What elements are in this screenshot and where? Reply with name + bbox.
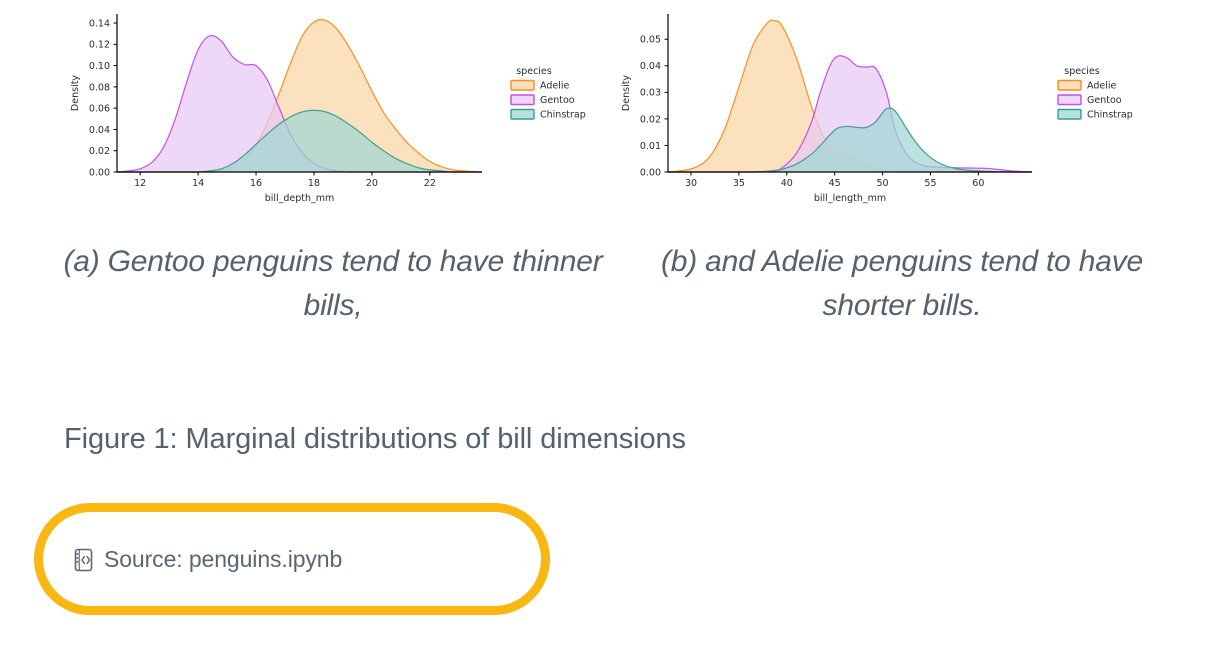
y-tick-label: 0.12 [89, 40, 110, 51]
y-axis-title: Density [70, 75, 81, 111]
legend-label-chinstrap: Chinstrap [1087, 109, 1133, 120]
x-tick-label: 50 [877, 178, 889, 189]
legend-swatch-gentoo [511, 95, 534, 105]
notebook-code-icon [71, 547, 95, 573]
y-tick-label: 0.10 [89, 61, 110, 72]
subcaption-b: (b) and Adelie penguins tend to have sho… [632, 240, 1172, 327]
x-tick-label: 12 [134, 178, 146, 189]
panel-bill-length: 303540455055600.000.010.020.030.040.05bi… [608, 0, 1208, 215]
figure-page: 1214161820220.000.020.040.060.080.100.12… [0, 0, 1215, 655]
x-tick-label: 16 [250, 178, 262, 189]
x-tick-label: 20 [366, 178, 378, 189]
x-tick-label: 40 [781, 178, 793, 189]
source-chip[interactable]: Source: penguins.ipynb [34, 503, 550, 615]
legend-label-chinstrap: Chinstrap [540, 109, 586, 120]
panel-bill-depth: 1214161820220.000.020.040.060.080.100.12… [5, 0, 605, 215]
x-tick-label: 35 [733, 178, 745, 189]
bill-depth-kde-chart: 1214161820220.000.020.040.060.080.100.12… [5, 0, 605, 215]
y-axis-title: Density [621, 75, 632, 111]
y-tick-label: 0.02 [89, 146, 110, 157]
subcaption-row: (a) Gentoo penguins tend to have thinner… [0, 240, 1215, 327]
y-tick-label: 0.08 [89, 82, 110, 93]
y-tick-label: 0.00 [89, 167, 110, 178]
y-tick-label: 0.02 [640, 114, 661, 125]
legend-label-gentoo: Gentoo [1087, 95, 1122, 106]
x-axis-title: bill_depth_mm [265, 193, 335, 204]
legend: speciesAdelieGentooChinstrap [1058, 66, 1133, 120]
y-tick-label: 0.05 [640, 35, 661, 46]
figure-row: 1214161820220.000.020.040.060.080.100.12… [0, 0, 1215, 215]
x-tick-label: 22 [424, 178, 436, 189]
legend: speciesAdelieGentooChinstrap [511, 66, 586, 120]
y-tick-label: 0.14 [89, 18, 110, 29]
legend-title: species [516, 66, 552, 77]
x-tick-label: 55 [924, 178, 936, 189]
legend-label-adelie: Adelie [540, 80, 569, 91]
legend-swatch-chinstrap [1058, 110, 1081, 120]
source-label: Source: penguins.ipynb [104, 546, 342, 573]
y-tick-label: 0.00 [640, 167, 661, 178]
x-tick-label: 30 [685, 178, 697, 189]
legend-swatch-gentoo [1058, 95, 1081, 105]
legend-label-adelie: Adelie [1087, 80, 1116, 91]
y-tick-label: 0.01 [640, 141, 661, 152]
plot-area [668, 20, 1032, 172]
y-tick-label: 0.06 [89, 104, 110, 115]
x-tick-label: 14 [192, 178, 204, 189]
bill-length-kde-chart: 303540455055600.000.010.020.030.040.05bi… [608, 0, 1208, 215]
y-tick-label: 0.04 [640, 61, 661, 72]
x-tick-label: 45 [829, 178, 841, 189]
legend-swatch-adelie [511, 81, 534, 91]
x-tick-label: 60 [972, 178, 984, 189]
figure-title: Figure 1: Marginal distributions of bill… [64, 423, 686, 456]
legend-swatch-adelie [1058, 81, 1081, 91]
y-tick-label: 0.04 [89, 125, 110, 136]
x-tick-label: 18 [308, 178, 320, 189]
x-axis-title: bill_length_mm [814, 193, 886, 204]
legend-title: species [1064, 66, 1100, 77]
subcaption-a: (a) Gentoo penguins tend to have thinner… [48, 240, 618, 327]
legend-swatch-chinstrap [511, 110, 534, 120]
legend-label-gentoo: Gentoo [540, 95, 575, 106]
y-tick-label: 0.03 [640, 88, 661, 99]
plot-area [117, 20, 482, 172]
